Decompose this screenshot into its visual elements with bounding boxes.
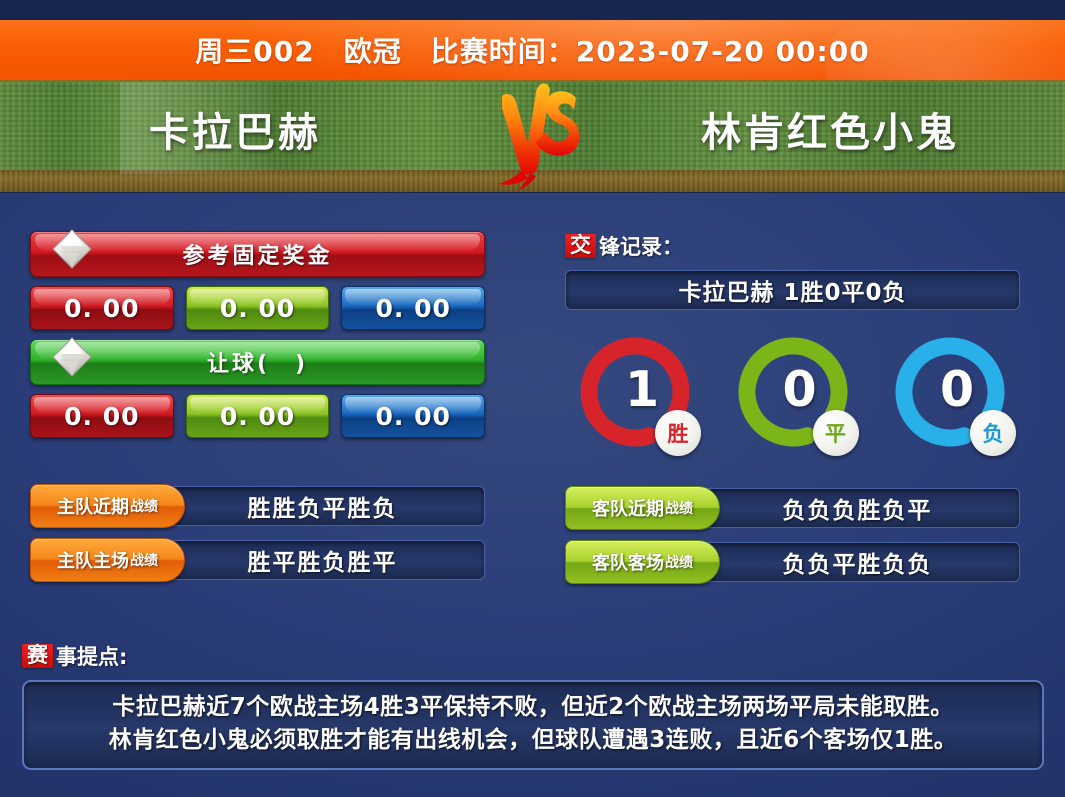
fixed-odd-draw[interactable]: 0. 00 (186, 286, 330, 330)
away-away-form-tab[interactable]: 客队客场 战绩 (565, 540, 720, 584)
home-home-form-tab[interactable]: 主队主场 战绩 (30, 538, 185, 582)
h2h-ring-draw: 0 平 (733, 332, 853, 452)
handicap-title-bar[interactable]: 让球( ) (30, 339, 485, 385)
fixed-odds-title-text: 参考固定奖金 (182, 238, 332, 270)
handicap-odds-row: 0. 00 0. 00 0. 00 (30, 394, 485, 438)
analysis-label-text: 事提点: (56, 641, 127, 671)
away-away-form-row: 负负平胜负负 客队客场 战绩 (565, 542, 1020, 582)
away-team-name: 林肯红色小鬼 (595, 96, 1065, 162)
home-home-form-tab-sub: 战绩 (130, 550, 158, 570)
fixed-odd-away[interactable]: 0. 00 (341, 286, 485, 330)
fixed-odds-title-bar[interactable]: 参考固定奖金 (30, 231, 485, 277)
h2h-ring-win: 1 胜 (575, 332, 695, 452)
h2h-summary-text: 卡拉巴赫 1胜0平0负 (678, 273, 906, 307)
h2h-rings: 1 胜 0 平 0 负 (565, 332, 1020, 452)
home-recent-form-tab[interactable]: 主队近期 战绩 (30, 484, 185, 528)
away-away-form-tab-sub: 战绩 (665, 552, 693, 572)
home-recent-form-tab-sub: 战绩 (130, 496, 158, 516)
away-recent-form-tab[interactable]: 客队近期 战绩 (565, 486, 720, 530)
away-recent-form-row: 负负负胜负平 客队近期 战绩 (565, 488, 1020, 528)
diamond-gem-icon (49, 334, 95, 380)
match-header-bar: 周三002 欧冠 比赛时间：2023-07-20 00:00 (0, 20, 1065, 80)
odds-panel: 参考固定奖金 0. 00 0. 00 0. 00 让球( ) 0. 00 0. … (30, 231, 485, 594)
h2h-loss-badge: 负 (970, 410, 1016, 456)
vs-flame-icon (492, 78, 588, 190)
handicap-title-text: 让球( ) (207, 346, 308, 378)
fixed-odds-row: 0. 00 0. 00 0. 00 (30, 286, 485, 330)
home-form-section: 胜胜负平胜负 主队近期 战绩 胜平胜负胜平 主队主场 战绩 (30, 486, 485, 580)
h2h-summary-track: 卡拉巴赫 1胜0平0负 (565, 270, 1020, 310)
home-recent-form-row: 胜胜负平胜负 主队近期 战绩 (30, 486, 485, 526)
away-form-section: 负负负胜负平 客队近期 战绩 负负平胜负负 客队客场 战绩 (565, 488, 1020, 582)
handicap-odd-draw[interactable]: 0. 00 (186, 394, 330, 438)
handicap-odd-away[interactable]: 0. 00 (341, 394, 485, 438)
h2h-win-badge: 胜 (655, 410, 701, 456)
head-to-head-panel: 交 锋记录： 卡拉巴赫 1胜0平0负 1 胜 0 平 (565, 231, 1020, 596)
analysis-badge: 赛 (22, 644, 53, 668)
away-recent-form-tab-main: 客队近期 (592, 495, 664, 521)
diamond-gem-icon (49, 226, 95, 272)
header-title: 周三002 欧冠 比赛时间：2023-07-20 00:00 (195, 30, 869, 70)
handicap-odd-home[interactable]: 0. 00 (30, 394, 174, 438)
home-home-form-row: 胜平胜负胜平 主队主场 战绩 (30, 540, 485, 580)
fixed-odd-home[interactable]: 0. 00 (30, 286, 174, 330)
analysis-line-1: 卡拉巴赫近7个欧战主场4胜3平保持不败，但近2个欧战主场两场平局未能取胜。 (38, 691, 1028, 724)
stats-board: 参考固定奖金 0. 00 0. 00 0. 00 让球( ) 0. 00 0. … (0, 192, 1065, 797)
h2h-draw-badge: 平 (813, 410, 859, 456)
analysis-section-label: 赛 事提点: (22, 641, 1044, 671)
analysis-section: 赛 事提点: 卡拉巴赫近7个欧战主场4胜3平保持不败，但近2个欧战主场两场平局未… (22, 641, 1044, 770)
h2h-section-label: 交 锋记录： (565, 231, 1020, 261)
away-away-form-tab-main: 客队客场 (592, 549, 664, 575)
analysis-line-2: 林肯红色小鬼必须取胜才能有出线机会，但球队遭遇3连败，且近6个客场仅1胜。 (38, 724, 1028, 757)
h2h-badge: 交 (565, 234, 596, 258)
home-recent-form-tab-main: 主队近期 (57, 493, 129, 519)
h2h-label-text: 锋记录： (599, 231, 683, 261)
home-home-form-tab-main: 主队主场 (57, 547, 129, 573)
analysis-text-box: 卡拉巴赫近7个欧战主场4胜3平保持不败，但近2个欧战主场两场平局未能取胜。 林肯… (22, 680, 1044, 770)
h2h-ring-loss: 0 负 (890, 332, 1010, 452)
away-recent-form-tab-sub: 战绩 (665, 498, 693, 518)
home-team-name: 卡拉巴赫 (0, 96, 470, 162)
